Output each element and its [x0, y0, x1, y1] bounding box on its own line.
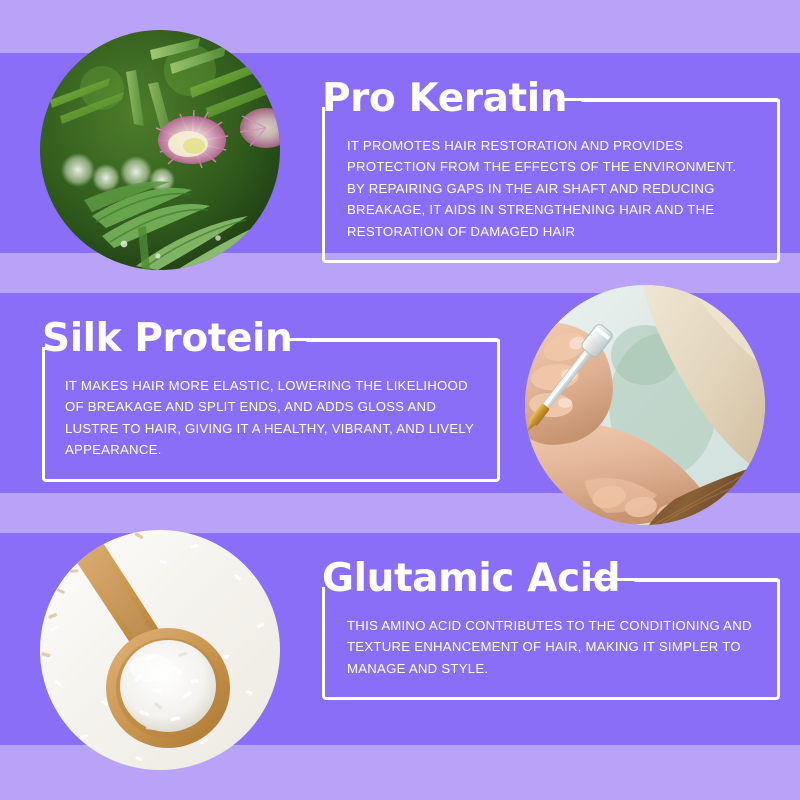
- heading-row: Silk Protein: [42, 312, 500, 364]
- section-glutamic-acid: Glutamic Acid This amino acid contribute…: [322, 552, 780, 700]
- heading-rule: [581, 99, 780, 102]
- mimosa-silk-tree-photo: [40, 30, 280, 270]
- section-silk-protein: Silk Protein It makes hair more elastic,…: [42, 312, 500, 482]
- section-description: It promotes hair restoration and provide…: [347, 135, 755, 242]
- hair-serum-dropper-photo: [525, 285, 765, 525]
- section-pro-keratin: Pro Keratin It promotes hair restoration…: [322, 72, 780, 263]
- section-heading: Pro Keratin: [322, 79, 581, 118]
- wooden-spoon-crystals-photo: [40, 530, 280, 770]
- heading-rule: [634, 579, 780, 582]
- section-description: This amino acid contributes to the condi…: [347, 615, 755, 679]
- heading-row: Glutamic Acid: [322, 552, 780, 604]
- section-description: It makes hair more elastic, lowering the…: [65, 375, 475, 461]
- section-heading: Glutamic Acid: [322, 559, 634, 598]
- heading-rule: [306, 339, 500, 342]
- section-heading: Silk Protein: [42, 319, 306, 358]
- heading-row: Pro Keratin: [322, 72, 780, 124]
